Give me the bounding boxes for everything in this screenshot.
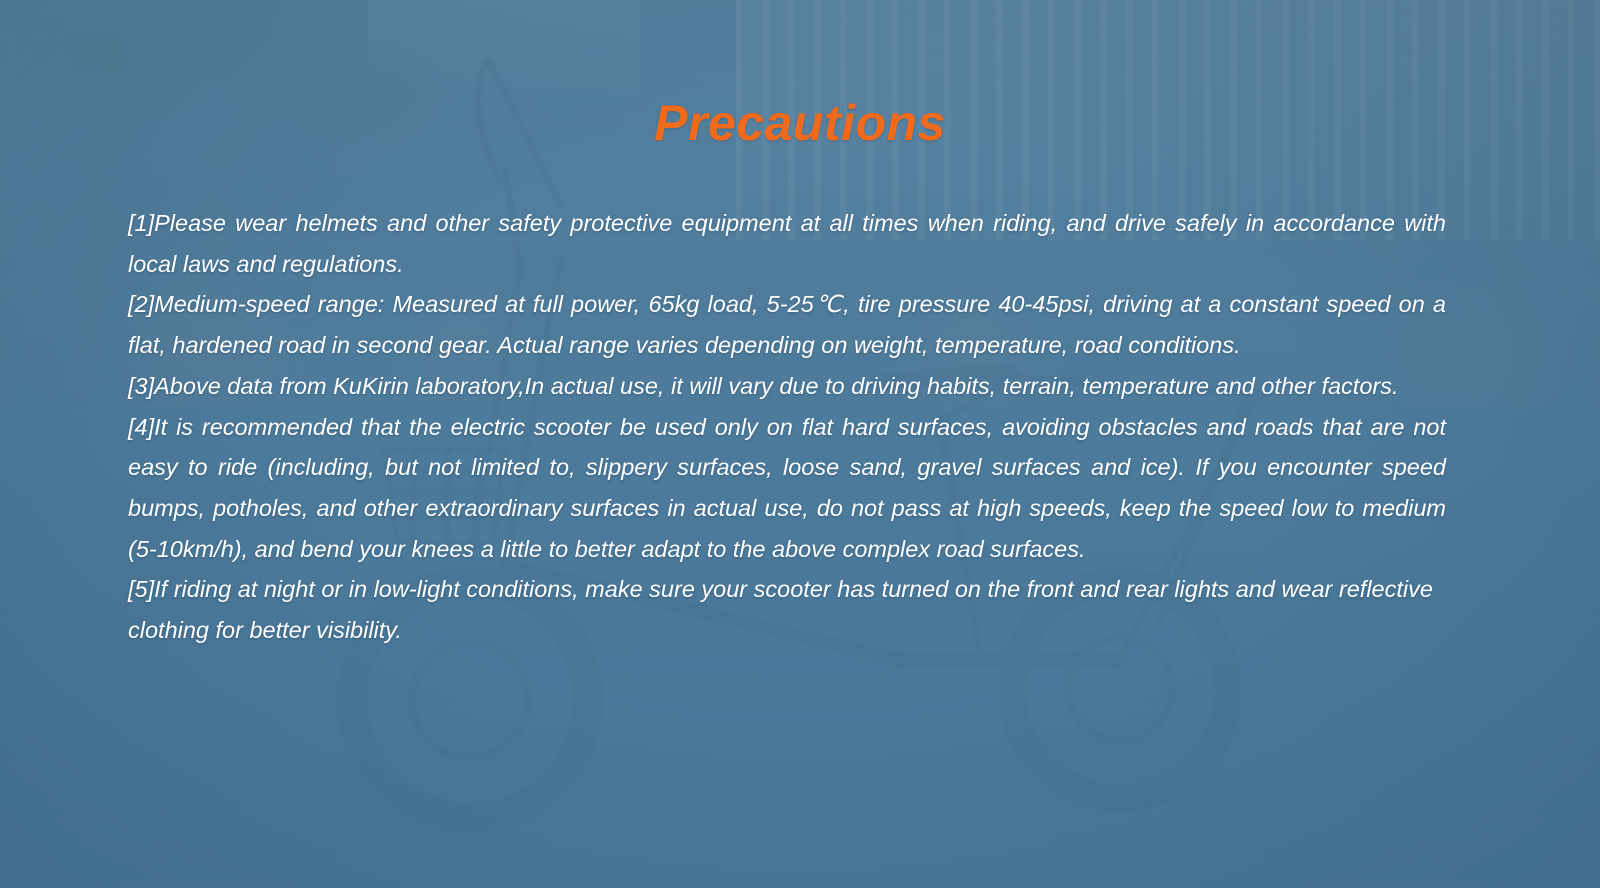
precaution-item-2: [2]Medium-speed range: Measured at full … xyxy=(128,284,1446,365)
precautions-slide: Precautions [1]Please wear helmets and o… xyxy=(0,0,1600,888)
precaution-item-3: [3]Above data from KuKirin laboratory,In… xyxy=(128,366,1446,407)
precaution-item-5: [5]If riding at night or in low-light co… xyxy=(128,569,1446,650)
slide-content: Precautions [1]Please wear helmets and o… xyxy=(0,0,1600,888)
precautions-list: [1]Please wear helmets and other safety … xyxy=(128,203,1446,651)
precaution-item-4: [4]It is recommended that the electric s… xyxy=(128,407,1446,570)
page-title: Precautions xyxy=(0,96,1600,151)
precaution-item-1: [1]Please wear helmets and other safety … xyxy=(128,203,1446,284)
